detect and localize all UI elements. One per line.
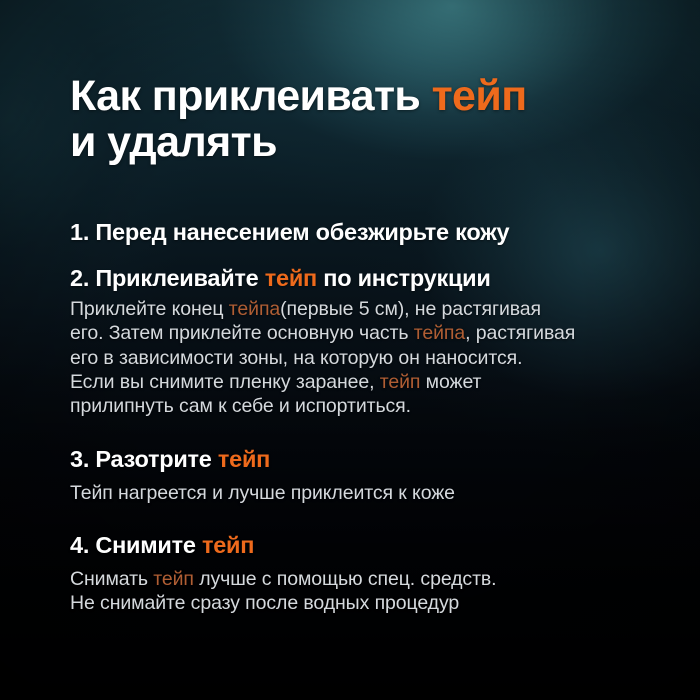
plain-text: 1. Перед нанесением обезжирьте кожу bbox=[70, 219, 509, 245]
plain-text: 4. Снимите bbox=[70, 532, 202, 558]
step-body-3: Тейп нагреется и лучше приклеится к коже bbox=[70, 481, 670, 505]
plain-text: Как приклеивать bbox=[70, 72, 432, 120]
step-body-2: Приклейте конец тейпа(первые 5 см), не р… bbox=[70, 297, 670, 418]
step-body-4: Снимать тейп лучше с помощью спец. средс… bbox=[70, 567, 670, 616]
page-title: Как приклеивать тейп и удалять bbox=[70, 73, 670, 165]
accent-word: тейп bbox=[202, 532, 254, 558]
plain-text: 2. Приклеивайте bbox=[70, 265, 265, 291]
accent-word: тейпа bbox=[229, 298, 280, 320]
poster-content: Как приклеивать тейп и удалять 1. Перед … bbox=[70, 0, 670, 700]
plain-text: Тейп нагреется и лучше приклеится к коже bbox=[70, 482, 455, 504]
step-heading-1: 1. Перед нанесением обезжирьте кожу bbox=[70, 219, 670, 246]
plain-text: 3. Разотрите bbox=[70, 446, 218, 472]
accent-word: тейп bbox=[265, 265, 317, 291]
accent-word: тейп bbox=[153, 568, 194, 590]
plain-text: Приклейте конец bbox=[70, 298, 229, 320]
accent-word: тейпа bbox=[414, 322, 465, 344]
step-heading-4: 4. Снимите тейп bbox=[70, 532, 670, 559]
plain-text: Снимать bbox=[70, 568, 153, 590]
step-heading-3: 3. Разотрите тейп bbox=[70, 446, 670, 473]
poster-canvas: Как приклеивать тейп и удалять 1. Перед … bbox=[0, 0, 700, 700]
accent-word: тейп bbox=[432, 72, 527, 120]
plain-text: и удалять bbox=[70, 118, 277, 166]
accent-word: тейп bbox=[218, 446, 270, 472]
step-heading-2: 2. Приклеивайте тейп по инструкции bbox=[70, 265, 670, 292]
accent-word: тейп bbox=[380, 371, 421, 393]
plain-text: по инструкции bbox=[317, 265, 491, 291]
